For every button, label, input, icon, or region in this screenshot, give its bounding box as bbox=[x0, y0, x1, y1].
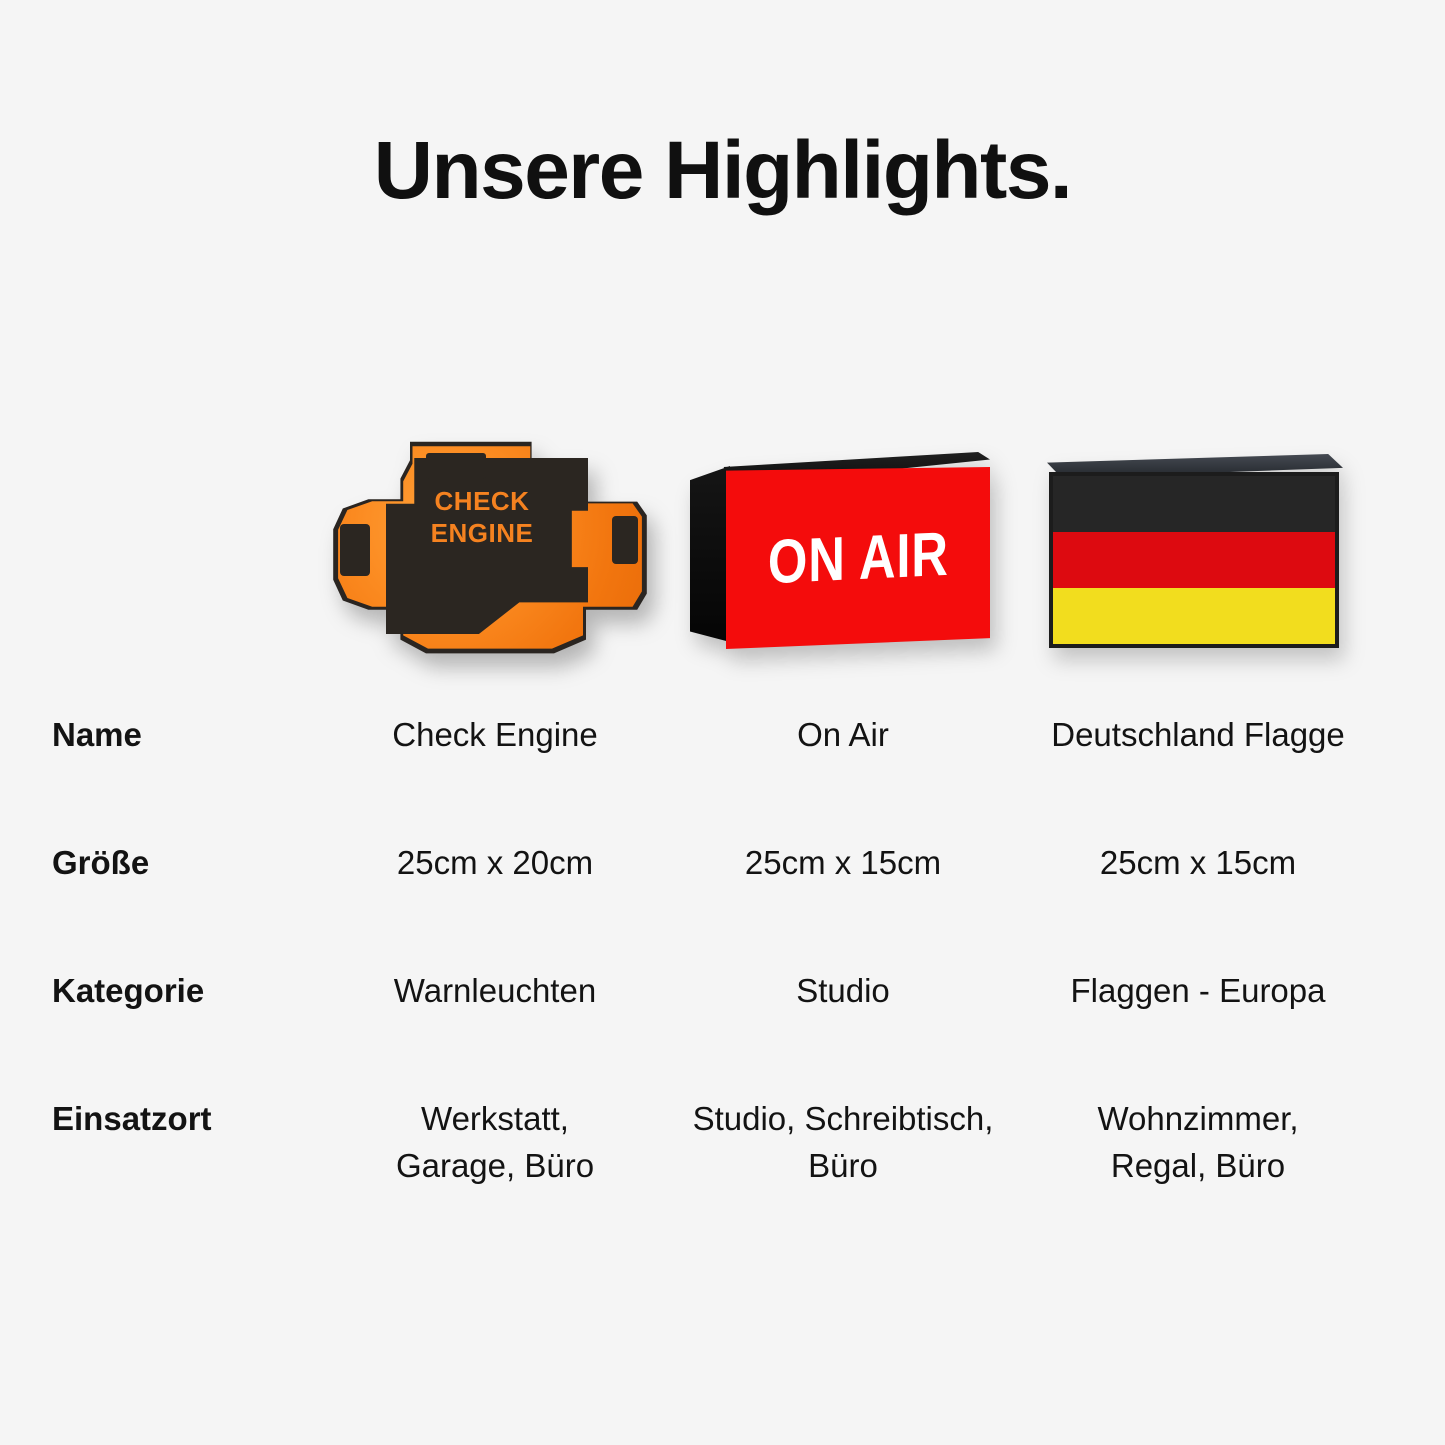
germany-flag-band-black bbox=[1053, 476, 1335, 532]
product-image-on-air[interactable]: ON AIR bbox=[665, 400, 1015, 670]
cell-name-on-air: On Air bbox=[668, 690, 1018, 818]
cell-name-deutschland-flagge: Deutschland Flagge bbox=[1018, 690, 1378, 818]
check-engine-lamp-icon: CHECK ENGINE bbox=[330, 428, 650, 658]
cell-groesse-deutschland-flagge: 25cm x 15cm bbox=[1018, 818, 1378, 946]
on-air-face-panel: ON AIR bbox=[726, 467, 990, 649]
check-engine-label-line1: CHECK bbox=[398, 486, 566, 518]
check-engine-nub-left bbox=[340, 524, 370, 576]
table-row-name: Name Check Engine On Air Deutschland Fla… bbox=[0, 690, 1445, 818]
cell-groesse-check-engine: 25cm x 20cm bbox=[320, 818, 670, 946]
cell-einsatzort-deutschland-flagge: Wohnzimmer, Regal, Büro bbox=[1018, 1074, 1378, 1234]
row-label-groesse: Größe bbox=[52, 818, 302, 946]
check-engine-label-line2: ENGINE bbox=[398, 518, 566, 550]
highlights-page: Unsere Highlights. CHECK ENGINE bbox=[0, 0, 1445, 1445]
check-engine-nub-right bbox=[612, 516, 638, 564]
row-label-kategorie: Kategorie bbox=[52, 946, 302, 1074]
on-air-sign-icon: ON AIR bbox=[690, 452, 990, 652]
row-label-einsatzort: Einsatzort bbox=[52, 1074, 302, 1234]
table-row-groesse: Größe 25cm x 20cm 25cm x 15cm 25cm x 15c… bbox=[0, 818, 1445, 946]
cell-name-check-engine: Check Engine bbox=[320, 690, 670, 818]
germany-flag-band-red bbox=[1053, 532, 1335, 588]
page-title: Unsere Highlights. bbox=[0, 128, 1445, 214]
cell-kategorie-check-engine: Warnleuchten bbox=[320, 946, 670, 1074]
cell-kategorie-on-air: Studio bbox=[668, 946, 1018, 1074]
spec-comparison-table: Name Check Engine On Air Deutschland Fla… bbox=[0, 690, 1445, 1234]
table-row-kategorie: Kategorie Warnleuchten Studio Flaggen - … bbox=[0, 946, 1445, 1074]
product-image-check-engine[interactable]: CHECK ENGINE bbox=[315, 400, 665, 670]
cell-groesse-on-air: 25cm x 15cm bbox=[668, 818, 1018, 946]
cell-kategorie-deutschland-flagge: Flaggen - Europa bbox=[1018, 946, 1378, 1074]
check-engine-nub-top bbox=[426, 453, 486, 479]
cell-einsatzort-check-engine: Werkstatt, Garage, Büro bbox=[320, 1074, 670, 1234]
on-air-label: ON AIR bbox=[768, 518, 949, 597]
product-image-row: CHECK ENGINE ON AIR bbox=[0, 400, 1445, 670]
on-air-side-panel bbox=[690, 466, 730, 642]
table-row-einsatzort: Einsatzort Werkstatt, Garage, Büro Studi… bbox=[0, 1074, 1445, 1234]
cell-einsatzort-on-air: Studio, Schreibtisch, Büro bbox=[668, 1074, 1018, 1234]
germany-flag-band-yellow bbox=[1053, 588, 1335, 644]
product-image-deutschland-flagge[interactable] bbox=[1020, 400, 1370, 670]
germany-flag-lamp-icon bbox=[1047, 454, 1343, 650]
row-label-name: Name bbox=[52, 690, 302, 818]
check-engine-label: CHECK ENGINE bbox=[398, 486, 566, 549]
germany-flag-face-panel bbox=[1049, 472, 1339, 648]
